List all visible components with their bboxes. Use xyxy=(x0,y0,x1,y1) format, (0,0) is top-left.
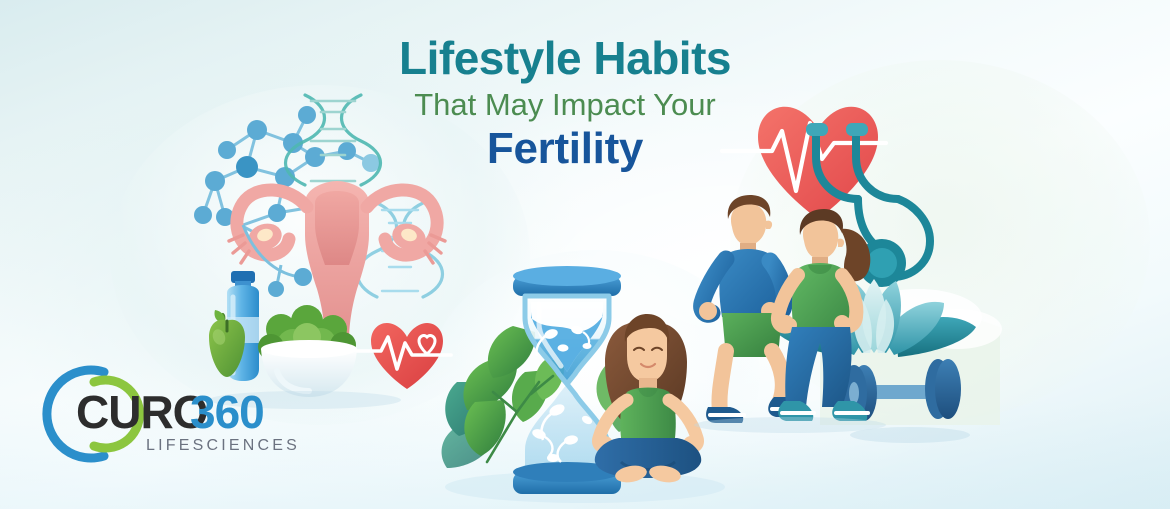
headline-line-1: Lifestyle Habits xyxy=(330,34,800,84)
headline-block: Lifestyle Habits That May Impact Your Fe… xyxy=(330,34,800,174)
curo360-logo[interactable]: CURO 360 LIFESCIENCES xyxy=(42,358,302,470)
headline-line-2: That May Impact Your xyxy=(330,86,800,125)
meditating-woman-figure xyxy=(595,314,701,485)
logo-text-360: 360 xyxy=(190,386,264,438)
logo-text-tagline: LIFESCIENCES xyxy=(146,437,300,454)
headline-line-3: Fertility xyxy=(330,125,800,173)
logo-text-curo: CURO xyxy=(76,386,207,438)
center-illustration-cluster xyxy=(435,262,735,509)
lifestyle-fertility-banner: Lifestyle Habits That May Impact Your Fe… xyxy=(0,0,1170,509)
